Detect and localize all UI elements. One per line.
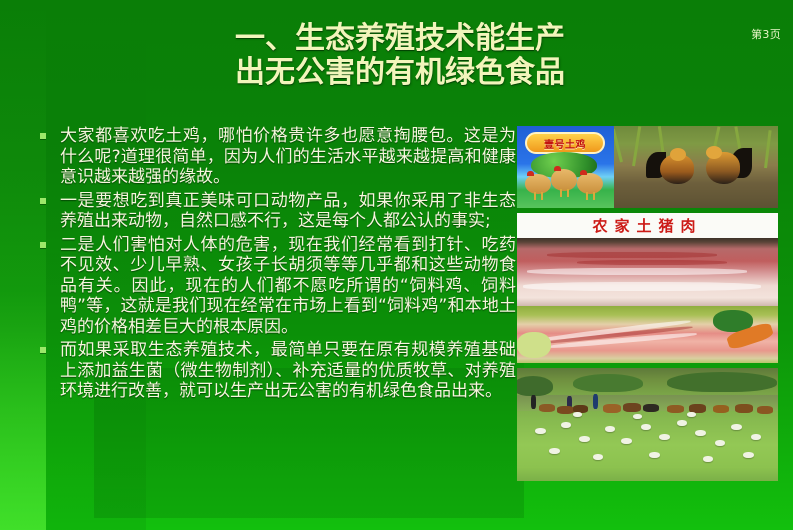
sheep-shape bbox=[687, 412, 696, 417]
herder-figure bbox=[531, 395, 536, 409]
cabbage-shape bbox=[517, 332, 551, 358]
rooster-head bbox=[706, 146, 722, 159]
list-item: 二是人们害怕对人体的危害，现在我们经常看到打针、吃药不见效、少儿早熟、女孩子长胡… bbox=[34, 235, 516, 338]
leg-shape bbox=[586, 192, 588, 200]
cow-shape bbox=[643, 404, 659, 412]
grass-blade bbox=[632, 126, 641, 166]
sheep-shape bbox=[549, 448, 560, 454]
sheep-shape bbox=[579, 436, 590, 442]
square-bullet-icon bbox=[40, 242, 46, 248]
bullet-text: 一是要想吃到真正美味可口动物产品，如果你采用了非生态养殖出来动物，自然口感不行，… bbox=[60, 191, 516, 232]
shrub-shape bbox=[517, 376, 553, 396]
pasture-livestock-image bbox=[517, 368, 778, 481]
pork-banner: 农家土猪肉 bbox=[517, 213, 778, 238]
rooster-head bbox=[670, 148, 686, 161]
brand-logo-text: 壹号土鸡 bbox=[544, 136, 586, 151]
list-item: 大家都喜欢吃土鸡，哪怕价格贵许多也愿意掏腰包。这是为什么呢?道理很简单，因为人们… bbox=[34, 126, 516, 188]
cow-shape bbox=[667, 405, 684, 413]
leg-shape bbox=[541, 192, 543, 200]
hen-shape bbox=[551, 169, 577, 191]
hen-shape bbox=[525, 174, 551, 194]
leg-shape bbox=[567, 189, 569, 197]
brand-ad-image: 壹号土鸡 bbox=[517, 126, 614, 208]
brand-logo: 壹号土鸡 bbox=[525, 132, 605, 154]
slide-title: 一、生态养殖技术能生产 出无公害的有机绿色食品 bbox=[100, 22, 700, 90]
list-item: 而如果采取生态养殖技术，最简单只要在原有规模养殖基础上添加益生菌（微生物制剂）、… bbox=[34, 340, 516, 402]
pork-banner-text: 农家土猪肉 bbox=[592, 215, 702, 236]
sheep-shape bbox=[535, 428, 546, 434]
sheep-shape bbox=[561, 422, 571, 428]
chicken-photo-group: 壹号土鸡 bbox=[517, 126, 778, 208]
square-bullet-icon bbox=[40, 198, 46, 204]
cow-shape bbox=[557, 406, 574, 414]
cow-shape bbox=[713, 405, 729, 413]
sheep-shape bbox=[605, 426, 615, 432]
cow-shape bbox=[757, 406, 773, 414]
leg-shape bbox=[593, 192, 595, 200]
sheep-shape bbox=[593, 454, 603, 460]
sheep-shape bbox=[633, 414, 642, 419]
grass-blade bbox=[614, 129, 623, 163]
sheep-shape bbox=[715, 440, 725, 446]
grass-blade bbox=[764, 130, 772, 168]
square-bullet-icon bbox=[40, 133, 46, 139]
comb-shape bbox=[580, 170, 587, 175]
pork-slices-photo bbox=[517, 306, 778, 363]
sheep-shape bbox=[641, 424, 651, 430]
sheep-shape bbox=[703, 456, 713, 462]
sheep-shape bbox=[731, 424, 742, 430]
sheep-shape bbox=[659, 434, 670, 440]
sheep-shape bbox=[677, 420, 687, 426]
square-bullet-icon bbox=[40, 347, 46, 353]
bullet-text: 二是人们害怕对人体的危害，现在我们经常看到打针、吃药不见效、少儿早熟、女孩子长胡… bbox=[60, 235, 516, 338]
list-item: 一是要想吃到真正美味可口动物产品，如果你采用了非生态养殖出来动物，自然口感不行，… bbox=[34, 191, 516, 232]
sheep-shape bbox=[751, 434, 761, 440]
cow-shape bbox=[603, 404, 621, 413]
hen-shape bbox=[577, 173, 603, 194]
sheep-shape bbox=[621, 438, 632, 444]
cow-shape bbox=[623, 403, 641, 412]
lean-streak bbox=[547, 252, 717, 258]
page-number: 第3页 bbox=[751, 26, 781, 42]
comb-shape bbox=[554, 166, 561, 171]
field-chickens-image bbox=[614, 126, 778, 208]
bullet-list: 大家都喜欢吃土鸡，哪怕价格贵许多也愿意掏腰包。这是为什么呢?道理很简单，因为人们… bbox=[34, 126, 516, 405]
herder-figure bbox=[593, 394, 598, 409]
leg-shape bbox=[560, 189, 562, 197]
leg-shape bbox=[534, 192, 536, 200]
shrub-shape bbox=[573, 374, 643, 392]
fat-streak bbox=[527, 268, 747, 275]
sheep-shape bbox=[743, 452, 754, 458]
cow-shape bbox=[539, 404, 555, 412]
image-column: 壹号土鸡 bbox=[517, 126, 778, 481]
lean-streak bbox=[577, 260, 727, 265]
sheep-shape bbox=[649, 452, 660, 458]
fat-streak bbox=[523, 282, 761, 291]
bullet-text: 大家都喜欢吃土鸡，哪怕价格贵许多也愿意掏腰包。这是为什么呢?道理很简单，因为人们… bbox=[60, 126, 516, 188]
cow-shape bbox=[735, 404, 753, 413]
bullet-text: 而如果采取生态养殖技术，最简单只要在原有规模养殖基础上添加益生菌（微生物制剂）、… bbox=[60, 340, 516, 402]
presentation-slide: 第3页 一、生态养殖技术能生产 出无公害的有机绿色食品 大家都喜欢吃土鸡，哪怕价… bbox=[0, 0, 793, 530]
sheep-shape bbox=[573, 412, 582, 417]
shrub-shape bbox=[667, 372, 777, 392]
sheep-shape bbox=[695, 430, 706, 436]
native-pork-image: 农家土猪肉 bbox=[517, 213, 778, 363]
comb-shape bbox=[527, 171, 534, 176]
pork-belly-photo bbox=[517, 238, 778, 306]
